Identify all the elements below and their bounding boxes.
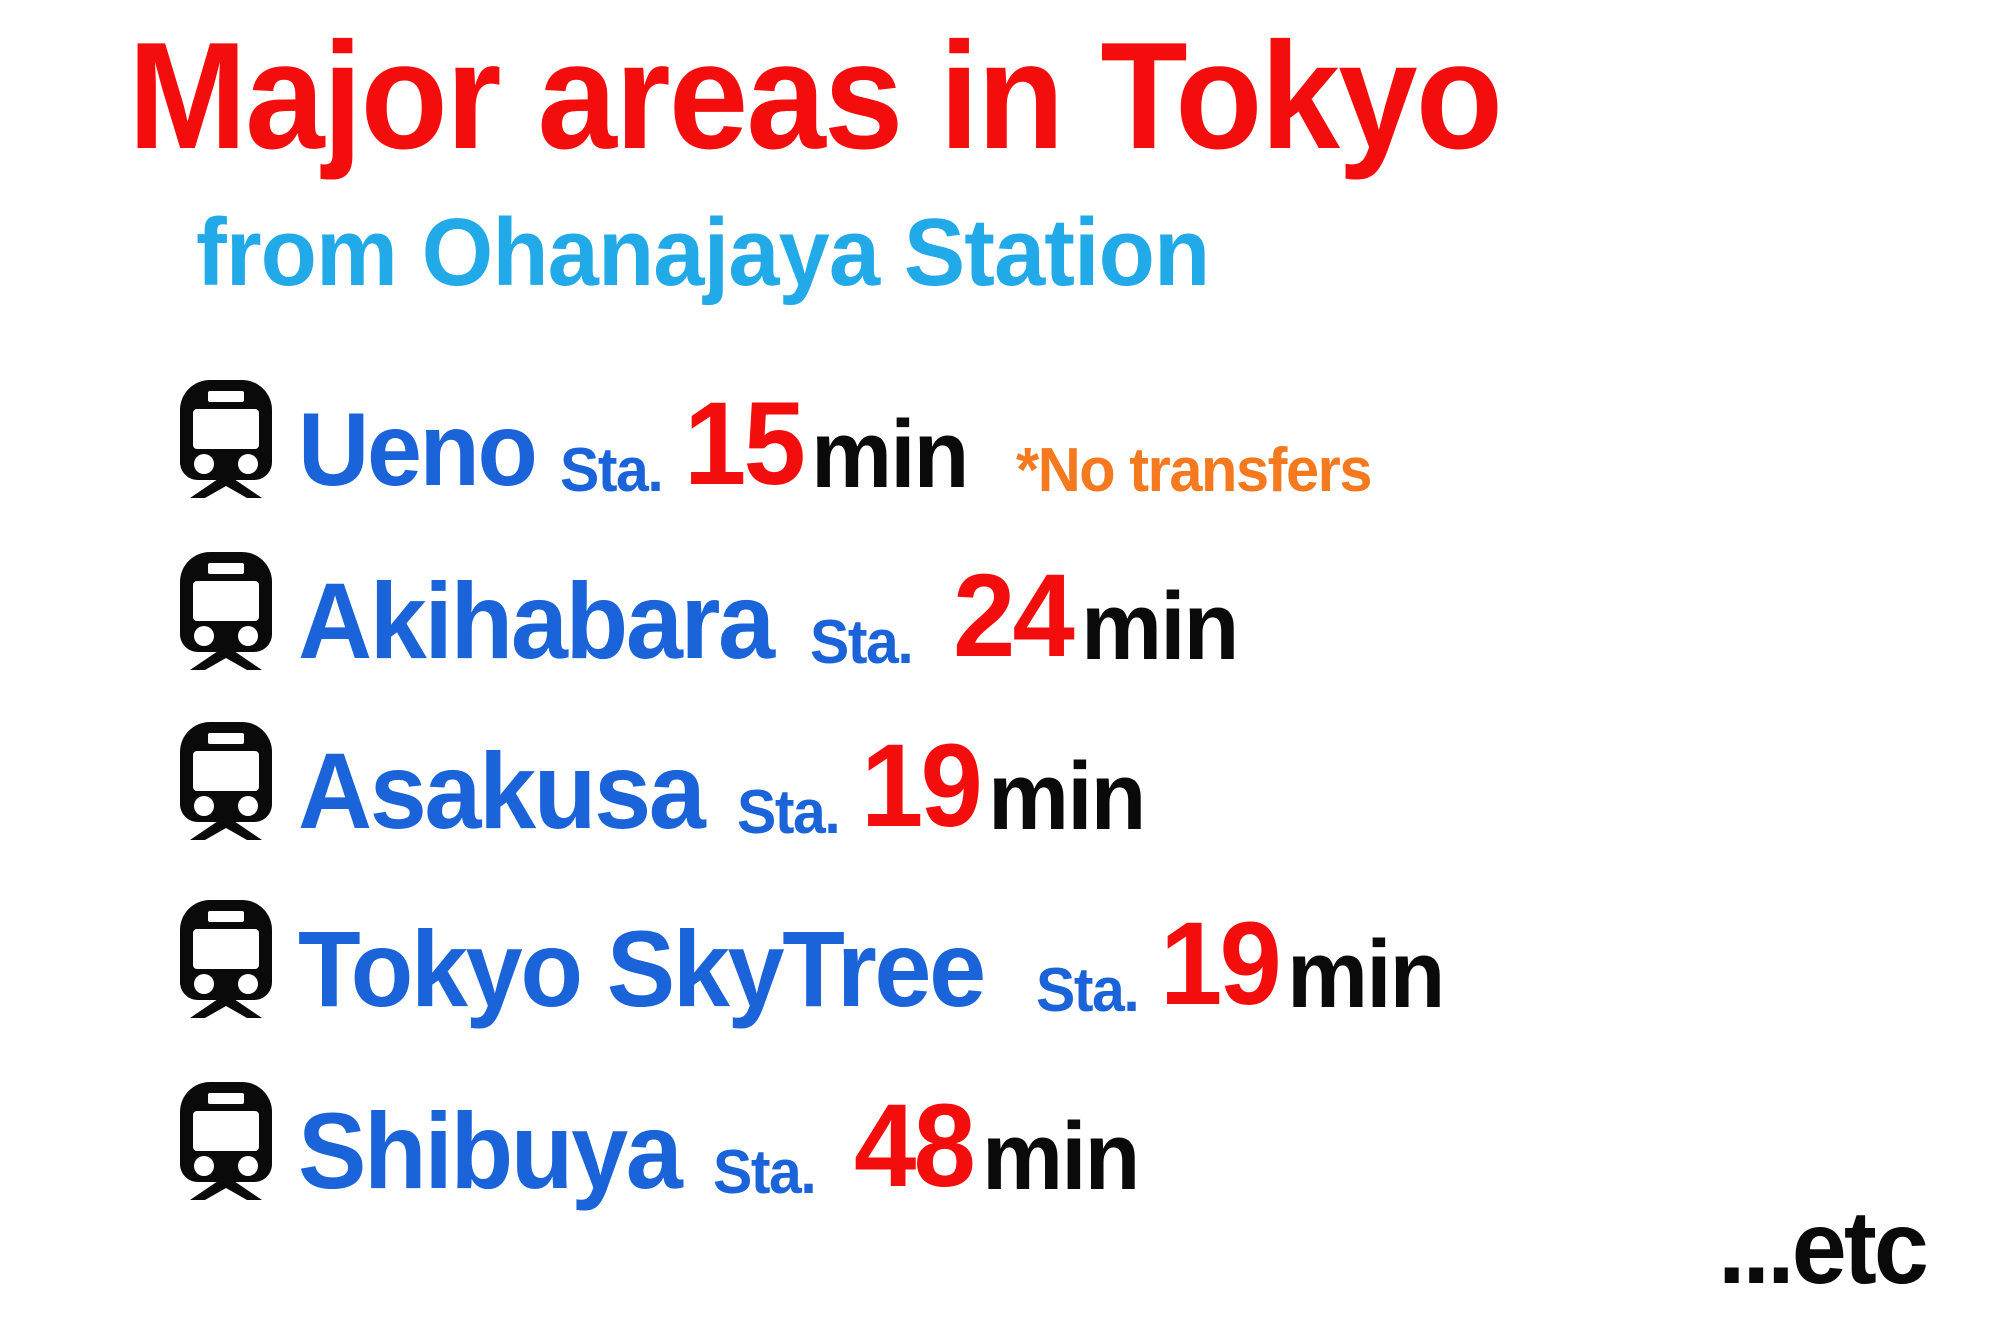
route-row-shibuya: Shibuya Sta. 48 min (180, 1082, 1146, 1202)
train-icon (180, 722, 272, 840)
route-row-asakusa: Asakusa Sta. 19 min (180, 722, 1152, 842)
station-suffix: Sta. (810, 614, 912, 672)
page-title: Major areas in Tokyo (128, 20, 1501, 172)
time-unit: min (1081, 582, 1237, 672)
transfer-note: *No transfers (1016, 442, 1371, 500)
station-suffix: Sta. (1036, 962, 1138, 1020)
travel-minutes: 24 (953, 561, 1072, 672)
time-unit: min (1287, 930, 1443, 1020)
station-suffix: Sta. (560, 442, 662, 500)
station-name: Asakusa (298, 740, 703, 842)
route-row-ueno: Ueno Sta. 15 min *No transfers (180, 380, 1386, 500)
poster-canvas: Major areas in Tokyo from Ohanajaya Stat… (0, 0, 2000, 1336)
travel-minutes: 15 (684, 389, 803, 500)
train-icon (180, 380, 272, 498)
station-suffix: Sta. (713, 1144, 815, 1202)
travel-minutes: 48 (854, 1091, 973, 1202)
travel-minutes: 19 (1160, 909, 1279, 1020)
etc-note: ...etc (1718, 1196, 1926, 1300)
travel-minutes: 19 (861, 731, 980, 842)
train-icon (180, 1082, 272, 1200)
station-name: Shibuya (298, 1100, 680, 1202)
route-row-akihabara: Akihabara Sta. 24 min (180, 552, 1245, 672)
station-name: Ueno (298, 402, 536, 500)
station-suffix: Sta. (737, 784, 839, 842)
station-name: Akihabara (298, 570, 773, 672)
train-icon (180, 900, 272, 1018)
station-name: Tokyo SkyTree (298, 918, 984, 1020)
page-subtitle: from Ohanajaya Station (196, 205, 1209, 301)
route-row-tokyo-skytree: Tokyo SkyTree Sta. 19 min (180, 900, 1452, 1020)
train-icon (180, 552, 272, 670)
time-unit: min (811, 410, 967, 500)
time-unit: min (988, 752, 1144, 842)
time-unit: min (982, 1112, 1138, 1202)
